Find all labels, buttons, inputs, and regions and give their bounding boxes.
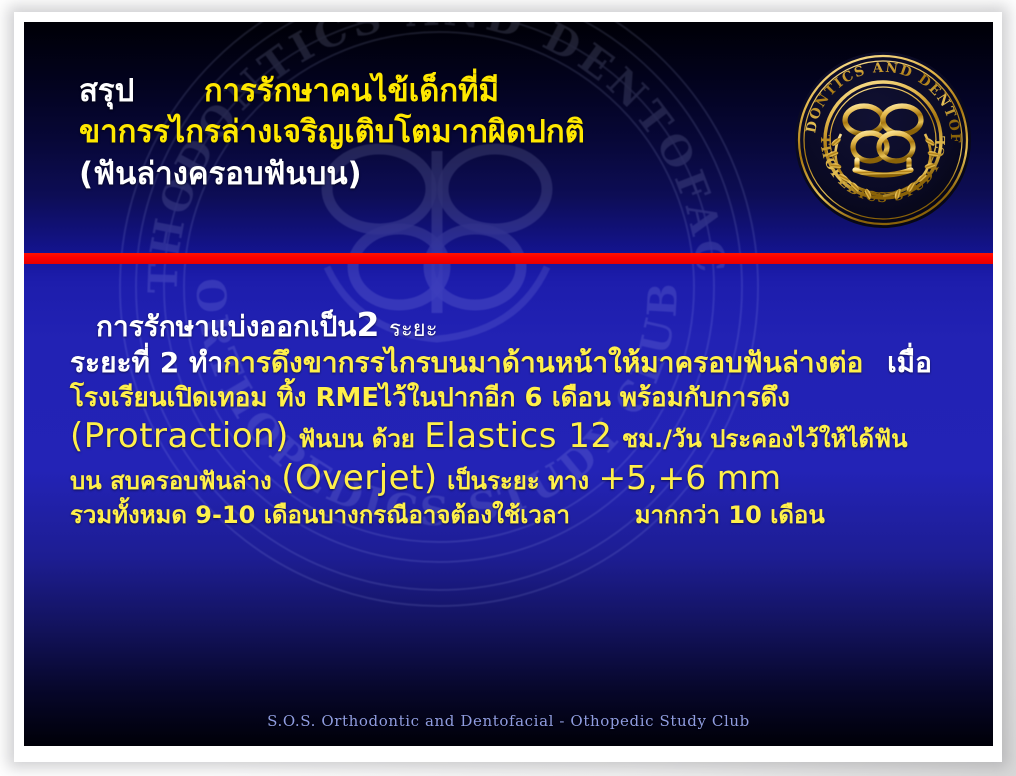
body-line-6-b: มากกว่า 10 เดือน xyxy=(635,501,825,529)
slide-footer: S.O.S. Orthodontic and Dentofacial - Oth… xyxy=(24,712,993,730)
body-line-6: รวมทั้งหมด 9-10 เดือนบางกรณีอาจต้องใช้เว… xyxy=(70,502,970,528)
body-line-5-a: บน สบครอบฟันล่าง xyxy=(70,467,272,495)
body-line-4-protraction: (Protraction) xyxy=(70,416,289,456)
slide-frame: ORTHODONTICS AND DENTOFACIAL ORTHOPEDICS… xyxy=(0,0,1016,776)
title-line-1: สรุป การรักษาคนไข้เด็กที่มี xyxy=(79,74,799,109)
body-line-1-number: 2 xyxy=(356,305,379,344)
body-line-3-a: โรงเรียนเปิดเทอม ทิ้ง xyxy=(70,383,306,413)
title-line-2: ขากรรไกรล่างเจริญเติบโตมากผิดปกติ xyxy=(79,115,799,150)
body-line-4-b: ฟันบน ด้วย xyxy=(298,425,415,453)
body-line-3-rme: RME xyxy=(316,383,380,413)
title-line-3: (ฟันล่างครอบฟันบน) xyxy=(79,157,799,192)
title-line-1-prefix: สรุป xyxy=(79,73,134,109)
body-line-2: ระยะที่ 2 ทำการดึงขากรรไกรบนมาด้านหน้าให… xyxy=(70,348,970,379)
body-line-5: บน สบครอบฟันล่าง (Overjet) เป็นระยะ ทาง … xyxy=(70,460,970,497)
body-line-2-white: ระยะที่ 2 ทำ xyxy=(70,346,223,379)
body-line-5-overjet: (Overjet) xyxy=(281,458,438,498)
slide-body: การรักษาแบ่งออกเป็น2 ระยะ ระยะที่ 2 ทำกา… xyxy=(70,307,970,534)
body-line-4-elastics: Elastics 12 xyxy=(424,416,612,456)
body-line-1-a: การรักษาแบ่งออกเป็น xyxy=(96,310,356,343)
study-club-logo-icon: ORTHODONTICS AND DENTOFACIAL ORTHOPEDICS… xyxy=(795,52,971,228)
body-line-1-b: ระยะ xyxy=(389,317,437,342)
body-line-6-a: รวมทั้งหมด 9-10 เดือนบางกรณีอาจต้องใช้เว… xyxy=(70,501,570,529)
body-line-4: (Protraction) ฟันบน ด้วย Elastics 12 ชม.… xyxy=(70,418,970,455)
body-line-5-c: เป็นระยะ ทาง xyxy=(447,467,589,495)
body-line-2-yellow: การดึงขากรรไกรบนมาด้านหน้าให้มาครอบฟันล่… xyxy=(223,346,863,379)
red-divider xyxy=(24,253,993,264)
slide-canvas: ORTHODONTICS AND DENTOFACIAL ORTHOPEDICS… xyxy=(24,22,993,746)
body-line-5-measure: +5,+6 mm xyxy=(598,458,781,497)
body-line-3-c: ไว้ในปากอีก 6 เดือน พร้อมกับการดึง xyxy=(379,383,790,413)
body-line-1: การรักษาแบ่งออกเป็น2 ระยะ xyxy=(70,307,970,343)
title-line-1-main: การรักษาคนไข้เด็กที่มี xyxy=(204,73,499,109)
body-line-4-d: ชม./วัน ประคองไว้ให้ได้ฟัน xyxy=(622,425,908,453)
body-line-3: โรงเรียนเปิดเทอม ทิ้ง RMEไว้ในปากอีก 6 เ… xyxy=(70,384,970,413)
body-line-2-tail: เมื่อ xyxy=(873,346,932,379)
slide-title: สรุป การรักษาคนไข้เด็กที่มี ขากรรไกรล่าง… xyxy=(79,74,799,198)
